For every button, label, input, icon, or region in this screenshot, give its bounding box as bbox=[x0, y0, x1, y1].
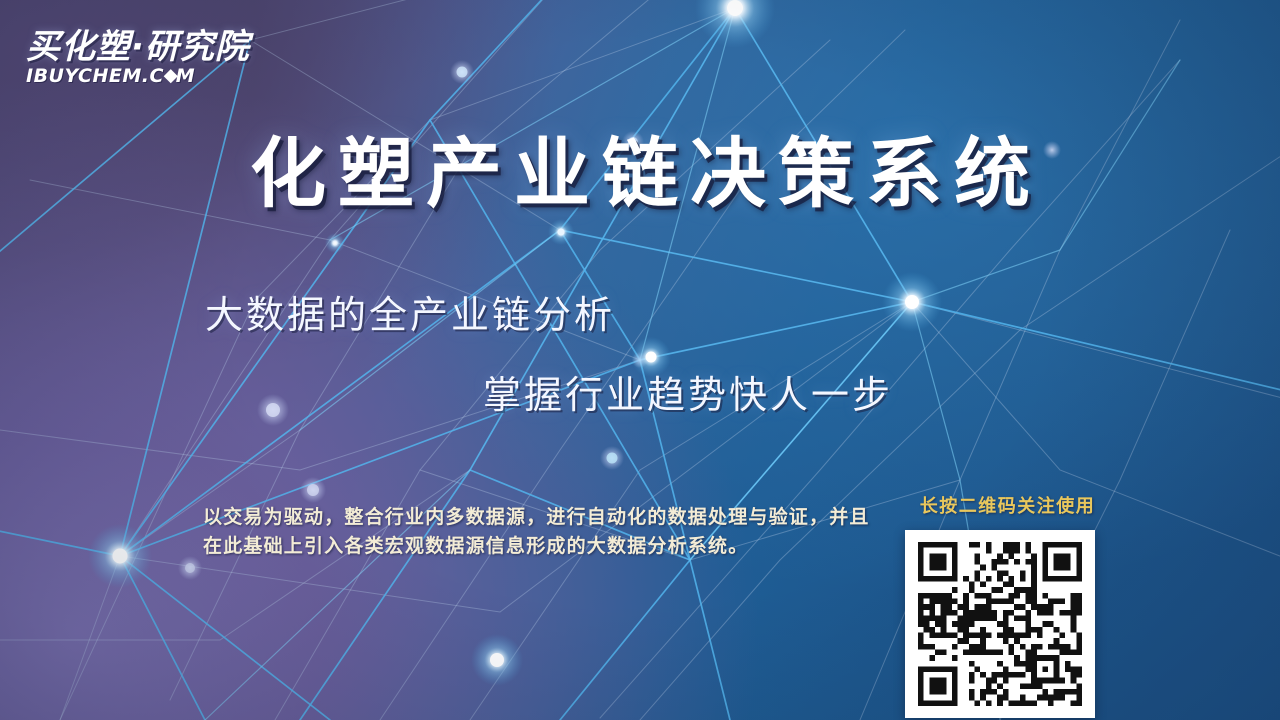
subtitle-line-2: 掌握行业趋势快人一步 bbox=[483, 364, 893, 419]
description-paragraph: 以交易为驱动，整合行业内多数据源，进行自动化的数据处理与验证，并且在此基础上引入… bbox=[203, 503, 873, 561]
brand-logo-cn: 买化塑·研究院 bbox=[26, 30, 306, 64]
brand-logo-en: IBUYCHEM.CM bbox=[26, 67, 306, 86]
brand-logo-en-after: M bbox=[176, 65, 195, 87]
qr-block: 长按二维码关注使用 bbox=[905, 492, 1115, 718]
qr-code[interactable] bbox=[905, 530, 1095, 718]
brand-logo-en-before: IBUYCHEM.C bbox=[26, 65, 164, 87]
qr-code-image bbox=[917, 542, 1083, 706]
qr-caption: 长按二维码关注使用 bbox=[905, 492, 1110, 518]
subtitle-line-1: 大数据的全产业链分析 bbox=[205, 284, 615, 339]
brand-logo[interactable]: 买化塑·研究院 IBUYCHEM.CM bbox=[26, 30, 306, 86]
promo-banner: 买化塑·研究院 IBUYCHEM.CM 化塑产业链决策系统 大数据的全产业链分析… bbox=[0, 0, 1280, 720]
page-title: 化塑产业链决策系统 bbox=[0, 132, 1280, 216]
